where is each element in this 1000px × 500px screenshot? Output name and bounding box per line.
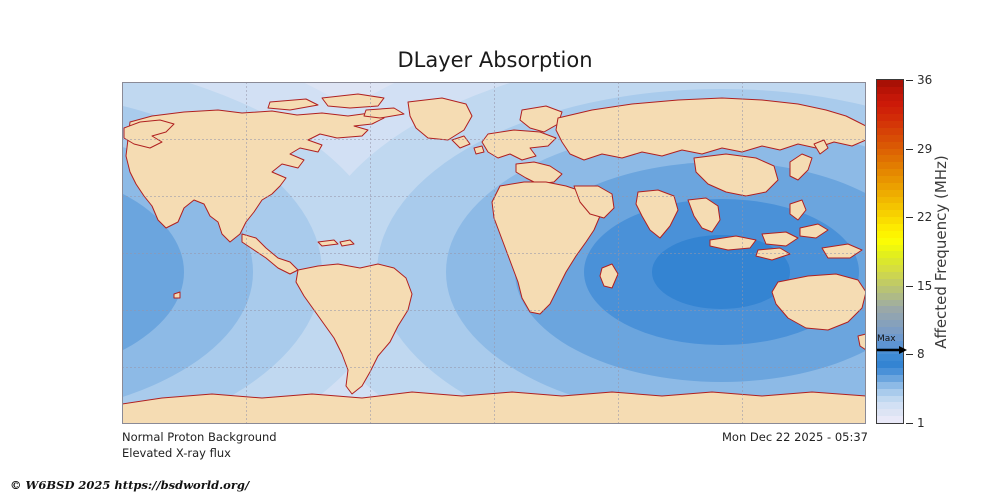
colorbar-segment	[877, 197, 903, 204]
colorbar-tick	[906, 286, 913, 287]
status-xray: Elevated X-ray flux	[122, 446, 231, 460]
colorbar-segment	[877, 245, 903, 252]
colorbar-segment	[877, 375, 903, 382]
colorbar-segment	[877, 265, 903, 272]
colorbar-segment	[877, 176, 903, 183]
colorbar-tick-label: 36	[917, 73, 932, 87]
colorbar-tick	[906, 423, 913, 424]
coastline-layer	[122, 82, 866, 424]
colorbar-segment	[877, 217, 903, 224]
colorbar-tick-label: 8	[917, 347, 925, 361]
colorbar-tick	[906, 80, 913, 81]
world-map[interactable]	[122, 82, 866, 424]
colorbar[interactable]	[876, 79, 904, 424]
colorbar-segment	[877, 327, 903, 334]
colorbar-segment	[877, 368, 903, 375]
colorbar-segment	[877, 162, 903, 169]
colorbar-tick-label: 15	[917, 279, 932, 293]
colorbar-segment	[877, 389, 903, 396]
colorbar-segment	[877, 80, 903, 87]
colorbar-tick-label: 22	[917, 210, 932, 224]
timestamp: Mon Dec 22 2025 - 05:37	[722, 430, 868, 444]
max-marker-label: Max	[877, 335, 896, 344]
page-title: DLayer Absorption	[0, 48, 990, 72]
colorbar-segment	[877, 87, 903, 94]
colorbar-tick	[906, 149, 913, 150]
colorbar-segment	[877, 300, 903, 307]
colorbar-segment	[877, 272, 903, 279]
colorbar-segment	[877, 183, 903, 190]
colorbar-segment	[877, 190, 903, 197]
colorbar-segment	[877, 382, 903, 389]
colorbar-axis-label: Affected Frequency (MHz)	[931, 79, 951, 424]
copyright-footer: © W6BSD 2025 https://bsdworld.org/	[10, 478, 249, 492]
colorbar-segment	[877, 142, 903, 149]
colorbar-segment	[877, 224, 903, 231]
colorbar-segment	[877, 251, 903, 258]
colorbar-segment	[877, 402, 903, 409]
colorbar-segment	[877, 114, 903, 121]
colorbar-segment	[877, 169, 903, 176]
colorbar-segment	[877, 286, 903, 293]
status-proton: Normal Proton Background	[122, 430, 277, 444]
dlayer-absorption-map-page: DLayer Absorption	[0, 0, 1000, 500]
max-arrow-icon	[877, 346, 907, 354]
colorbar-segment	[877, 203, 903, 210]
colorbar-segment	[877, 94, 903, 101]
colorbar-max-marker: Max	[877, 335, 911, 359]
colorbar-segment	[877, 293, 903, 300]
colorbar-segment	[877, 416, 903, 423]
colorbar-tick	[906, 217, 913, 218]
colorbar-tick-label: 1	[917, 416, 925, 430]
colorbar-segment	[877, 210, 903, 217]
colorbar-segment	[877, 306, 903, 313]
colorbar-segment	[877, 231, 903, 238]
colorbar-segment	[877, 409, 903, 416]
colorbar-segment	[877, 155, 903, 162]
colorbar-tick-label: 29	[917, 142, 932, 156]
colorbar-segment	[877, 279, 903, 286]
colorbar-segment	[877, 121, 903, 128]
colorbar-segment	[877, 361, 903, 368]
colorbar-segment	[877, 149, 903, 156]
colorbar-segment	[877, 238, 903, 245]
colorbar-segment	[877, 128, 903, 135]
colorbar-segment	[877, 258, 903, 265]
colorbar-segment	[877, 101, 903, 108]
colorbar-segment	[877, 396, 903, 403]
colorbar-segment	[877, 313, 903, 320]
colorbar-segment	[877, 107, 903, 114]
colorbar-segment	[877, 135, 903, 142]
colorbar-segment	[877, 320, 903, 327]
